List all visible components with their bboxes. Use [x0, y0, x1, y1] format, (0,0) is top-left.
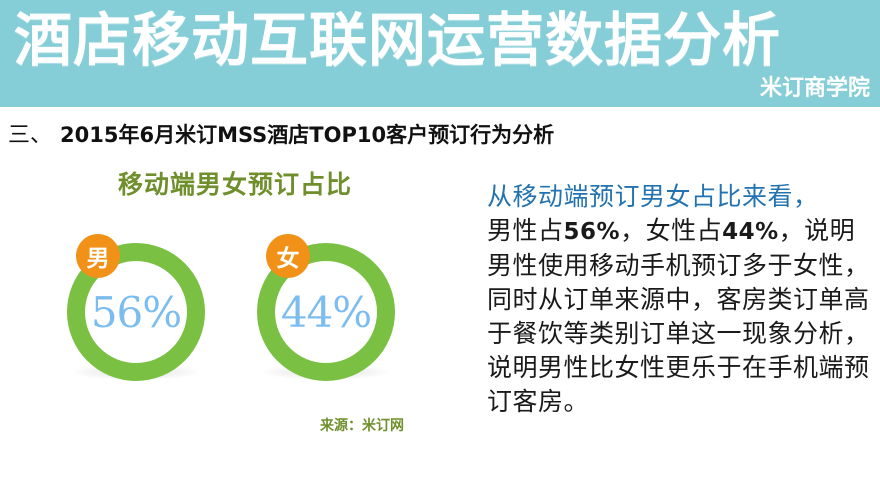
- commentary-lead: 从移动端预订男女占比来看，: [487, 180, 872, 214]
- chart-source-label: 来源：米订网: [320, 415, 404, 435]
- commentary-pct-male: 56%: [564, 219, 621, 245]
- header-banner: 酒店移动互联网运营数据分析 米订商学院: [0, 0, 880, 107]
- commentary-part-2: ，女性占: [620, 216, 722, 245]
- page-title: 酒店移动互联网运营数据分析: [14, 4, 781, 76]
- brand-subtitle: 米订商学院: [760, 76, 870, 102]
- commentary-text: 从移动端预订男女占比来看，男性占56%，女性占44%，说明男性使用移动手机预订多…: [487, 180, 872, 419]
- commentary-body: 男性占56%，女性占44%，说明男性使用移动手机预订多于女性，同时从订单来源中，…: [487, 214, 872, 419]
- section-title: 2015年6月米订MSS酒店TOP10客户预订行为分析: [60, 123, 554, 147]
- chart-title: 移动端男女预订占比: [118, 170, 352, 200]
- chart-panel: 移动端男女预订占比 56% 男 44% 女 来源：米订网: [0, 160, 470, 460]
- donut-badge-male: 男: [76, 234, 120, 278]
- commentary-part-3: ，说明男性使用移动手机预订多于女性，同时从订单来源中，客房类订单高于餐饮等类别订…: [487, 216, 870, 416]
- donut-chart-male: 56% 男: [62, 238, 212, 388]
- commentary-pct-female: 44%: [722, 219, 779, 245]
- commentary-part-1: 男性占: [487, 216, 564, 245]
- donut-chart-female: 44% 女: [252, 238, 402, 388]
- section-number: 三、: [8, 123, 52, 148]
- donut-badge-female: 女: [266, 234, 310, 278]
- section-heading: 三、2015年6月米订MSS酒店TOP10客户预订行为分析: [8, 117, 554, 149]
